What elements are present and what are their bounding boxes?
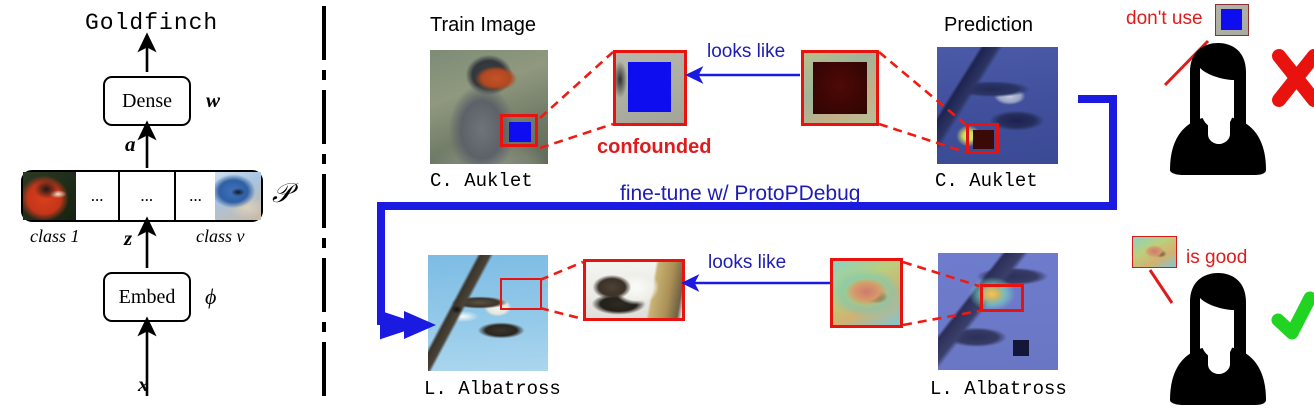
train-patch-image-bottom bbox=[586, 262, 682, 318]
activation-symbol: a bbox=[125, 132, 136, 157]
prototype-slot-ellipsis-1: ... bbox=[77, 172, 118, 220]
train-patch-image-top bbox=[616, 53, 684, 123]
input-symbol: x bbox=[138, 372, 149, 397]
latent-symbol: z bbox=[124, 226, 132, 251]
prototype-layer-symbol: 𝒫 bbox=[272, 178, 291, 210]
train-patch-crop-top bbox=[613, 50, 687, 126]
class-last-label: class v bbox=[196, 226, 245, 247]
fine-tune-arrowhead bbox=[381, 312, 420, 338]
prototype-slot-ellipsis-3: ... bbox=[176, 172, 215, 220]
train-image-roi-box-top bbox=[500, 114, 538, 147]
train-class-label-bottom: L. Albatross bbox=[424, 378, 561, 400]
train-class-label-top: C. Auklet bbox=[430, 170, 533, 192]
prototype-patch-bottom bbox=[830, 258, 903, 328]
column-title-prediction: Prediction bbox=[944, 14, 1033, 37]
feedback-label-top: don't use bbox=[1126, 8, 1203, 30]
embed-block: Embed bbox=[103, 272, 191, 322]
architecture-panel: Goldfinch Dense w a ... ... ... 𝒫 class … bbox=[0, 0, 322, 411]
train-patch-crop-bottom bbox=[583, 259, 685, 321]
prediction-roi-box-top bbox=[966, 123, 999, 154]
feedback-thumbnail-bottom bbox=[1132, 236, 1177, 268]
class-first-label: class 1 bbox=[30, 226, 80, 247]
prototype-layer: ... ... ... bbox=[21, 170, 263, 222]
dense-block-label: Dense bbox=[122, 90, 172, 113]
prediction-dark-square-bottom bbox=[1013, 340, 1029, 356]
cross-mark-icon bbox=[1279, 56, 1314, 100]
confound-square-patch bbox=[628, 62, 672, 112]
user-icon-bottom bbox=[1150, 270, 1310, 405]
figure-root: Goldfinch Dense w a ... ... ... 𝒫 class … bbox=[0, 0, 1314, 411]
prototype-slot-image-last bbox=[215, 172, 261, 220]
output-class-label: Goldfinch bbox=[85, 10, 218, 36]
prototype-heatmap-top bbox=[804, 53, 876, 123]
panel-separator bbox=[322, 0, 326, 411]
embed-block-label: Embed bbox=[119, 286, 176, 309]
feedback-thumbnail-top bbox=[1215, 4, 1249, 36]
prediction-class-label-top: C. Auklet bbox=[935, 170, 1038, 192]
zoom-link-top bbox=[540, 52, 613, 148]
train-image-roi-box-bottom bbox=[500, 278, 542, 310]
prototype-thumbnail-class-1 bbox=[23, 172, 76, 220]
prototype-slot-image-first bbox=[23, 172, 77, 220]
prototype-patch-top bbox=[801, 50, 879, 126]
feedback-thumbnail-square bbox=[1221, 9, 1242, 31]
prototype-heatmap-core-top bbox=[813, 62, 866, 114]
train-image-albatross bbox=[428, 255, 548, 371]
looks-like-label-top: looks like bbox=[707, 41, 785, 63]
prototype-slot-ellipsis-2: ... bbox=[120, 172, 175, 220]
dense-block: Dense bbox=[103, 76, 191, 126]
user-icon-top bbox=[1165, 41, 1314, 175]
prototype-thumbnail-class-v bbox=[215, 172, 261, 220]
feedback-label-bottom: is good bbox=[1186, 247, 1247, 269]
confounded-annotation: confounded bbox=[597, 136, 711, 159]
check-mark-icon bbox=[1278, 298, 1310, 333]
prediction-class-label-bottom: L. Albatross bbox=[930, 378, 1067, 400]
column-title-train: Train Image bbox=[430, 14, 536, 37]
confound-square-train bbox=[509, 122, 531, 142]
looks-like-label-bottom: looks like bbox=[708, 252, 786, 274]
fine-tune-label: fine-tune w/ ProtoPDebug bbox=[620, 182, 860, 206]
prediction-roi-box-bottom bbox=[980, 284, 1024, 312]
prototype-heatmap-bottom bbox=[833, 261, 900, 325]
prediction-roi-core-top bbox=[973, 130, 994, 149]
dense-weight-symbol: w bbox=[206, 88, 220, 113]
embed-param-symbol: ϕ bbox=[205, 284, 216, 310]
